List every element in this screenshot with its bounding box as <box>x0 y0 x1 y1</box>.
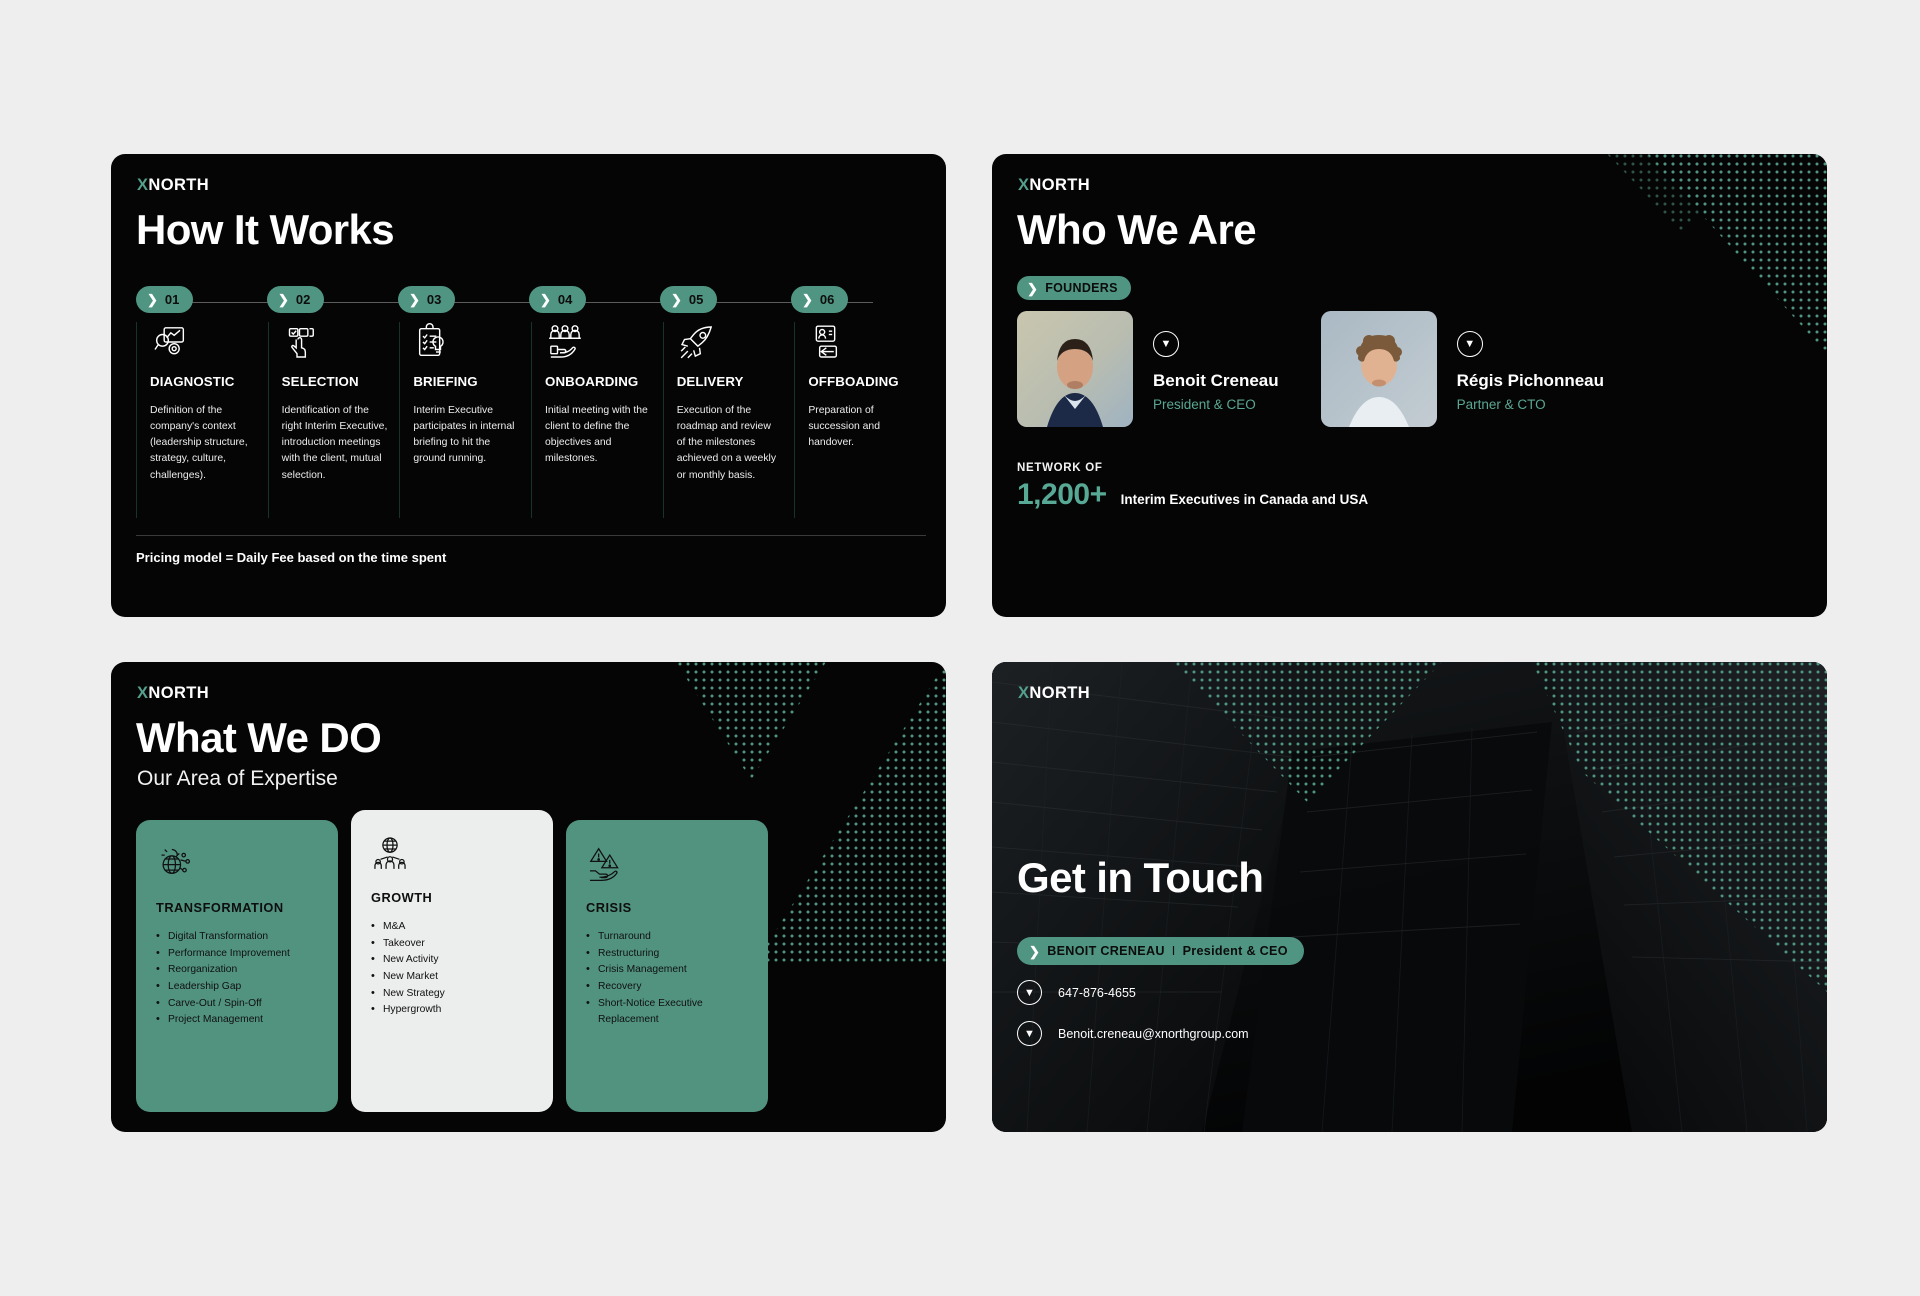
step-number: 03 <box>427 292 441 307</box>
founders-badge[interactable]: ❯FOUNDERS <box>1017 276 1131 300</box>
card-item-list: M&A Takeover New Activity New Market New… <box>371 919 533 1019</box>
xnorth-logo: XNORTH <box>1018 684 1090 703</box>
founder-role: President & CEO <box>1153 397 1279 412</box>
founder-meta: ▼ Régis Pichonneau Partner & CTO <box>1457 311 1604 412</box>
list-item: Reorganization <box>156 962 318 979</box>
founder-name: Régis Pichonneau <box>1457 371 1604 391</box>
slide-how-it-works: XNORTH How It Works ❯01 ❯02 ❯03 ❯04 ❯05 … <box>111 154 946 617</box>
contact-person-badge[interactable]: ❯ BENOIT CRENEAU I President & CEO <box>1017 937 1304 965</box>
contact-separator: I <box>1172 944 1176 958</box>
slide-get-in-touch: XNORTH Get in Touch ❯ BENOIT CRENEAU I P… <box>992 662 1827 1132</box>
logo-x-icon: X <box>137 684 148 703</box>
avatar <box>1321 311 1437 427</box>
page-title: Get in Touch <box>1017 854 1263 902</box>
step-desc: Initial meeting with the client to defin… <box>545 403 651 468</box>
contact-person-name: BENOIT CRENEAU <box>1047 944 1165 958</box>
founder-card: ▼ Benoit Creneau President & CEO <box>1017 311 1279 427</box>
contact-person-role: President & CEO <box>1183 944 1288 958</box>
list-item: Digital Transformation <box>156 929 318 946</box>
logo-x-icon: X <box>1018 176 1029 195</box>
step-title: SELECTION <box>282 374 388 389</box>
step-item: OFFBOADING Preparation of succession and… <box>794 322 926 518</box>
diagnostic-icon <box>150 322 256 364</box>
founder-list: ▼ Benoit Creneau President & CEO <box>1017 311 1604 427</box>
chevron-right-icon: ❯ <box>147 293 158 306</box>
list-item: Project Management <box>156 1012 318 1029</box>
step-title: OFFBOADING <box>808 374 914 389</box>
list-item: Turnaround <box>586 929 748 946</box>
chevron-down-icon[interactable]: ▼ <box>1017 1021 1042 1046</box>
step-desc: Preparation of succession and handover. <box>808 403 914 451</box>
logo-text: NORTH <box>148 176 209 194</box>
list-item: Short-Notice Executive Replacement <box>586 996 748 1029</box>
contact-phone-row[interactable]: ▼ 647-876-4655 <box>1017 980 1249 1005</box>
contact-phone: 647-876-4655 <box>1058 986 1136 1000</box>
chevron-right-icon: ❯ <box>540 293 551 306</box>
timeline-node-6[interactable]: ❯06 <box>791 286 848 313</box>
chevron-right-icon: ❯ <box>671 293 682 306</box>
founder-role: Partner & CTO <box>1457 397 1604 412</box>
list-item: Takeover <box>371 936 533 953</box>
chevron-down-icon[interactable]: ▼ <box>1457 331 1483 357</box>
xnorth-logo: XNORTH <box>137 684 209 703</box>
step-desc: Execution of the roadmap and review of t… <box>677 403 783 484</box>
chevron-right-icon: ❯ <box>409 293 420 306</box>
contact-list: ▼ 647-876-4655 ▼ Benoit.creneau@xnorthgr… <box>1017 980 1249 1062</box>
list-item: Restructuring <box>586 946 748 963</box>
crisis-icon <box>586 844 748 884</box>
chevron-right-icon: ❯ <box>278 293 289 306</box>
expertise-card-list: TRANSFORMATION Digital Transformation Pe… <box>136 820 768 1112</box>
network-stat: NETWORK OF 1,200+ Interim Executives in … <box>1017 462 1368 512</box>
timeline-node-2[interactable]: ❯02 <box>267 286 324 313</box>
avatar <box>1017 311 1133 427</box>
list-item: Recovery <box>586 979 748 996</box>
step-title: DIAGNOSTIC <box>150 374 256 389</box>
contact-email: Benoit.creneau@xnorthgroup.com <box>1058 1027 1249 1041</box>
logo-x-icon: X <box>137 176 148 195</box>
list-item: New Activity <box>371 952 533 969</box>
timeline-node-1[interactable]: ❯01 <box>136 286 193 313</box>
founder-name: Benoit Creneau <box>1153 371 1279 391</box>
step-item: SELECTION Identification of the right In… <box>268 322 400 518</box>
xnorth-logo: XNORTH <box>137 176 209 195</box>
step-desc: Interim Executive participates in intern… <box>413 403 519 468</box>
timeline-node-5[interactable]: ❯05 <box>660 286 717 313</box>
contact-email-row[interactable]: ▼ Benoit.creneau@xnorthgroup.com <box>1017 1021 1249 1046</box>
step-item: BRIEFING Interim Executive participates … <box>399 322 531 518</box>
network-description: Interim Executives in Canada and USA <box>1121 492 1369 507</box>
chevron-right-icon: ❯ <box>1029 945 1040 958</box>
expertise-card-crisis[interactable]: CRISIS Turnaround Restructuring Crisis M… <box>566 820 768 1112</box>
step-item: DELIVERY Execution of the roadmap and re… <box>663 322 795 518</box>
logo-text: NORTH <box>148 684 209 702</box>
logo-text: NORTH <box>1029 176 1090 194</box>
offboarding-icon <box>808 322 914 364</box>
founder-card: ▼ Régis Pichonneau Partner & CTO <box>1321 311 1604 427</box>
list-item: Crisis Management <box>586 962 748 979</box>
slide-who-we-are: XNORTH Who We Are ❯FOUNDERS <box>992 154 1827 617</box>
network-label: NETWORK OF <box>1017 462 1368 474</box>
briefing-icon <box>413 322 519 364</box>
expertise-card-transformation[interactable]: TRANSFORMATION Digital Transformation Pe… <box>136 820 338 1112</box>
step-number: 06 <box>820 292 834 307</box>
page-title: Who We Are <box>1017 206 1256 254</box>
card-title: GROWTH <box>371 890 533 905</box>
step-list: DIAGNOSTIC Definition of the company's c… <box>136 322 926 518</box>
page-subtitle: Our Area of Expertise <box>137 767 338 791</box>
step-item: ONBOARDING Initial meeting with the clie… <box>531 322 663 518</box>
chevron-right-icon: ❯ <box>802 293 813 306</box>
growth-icon <box>371 834 533 874</box>
step-item: DIAGNOSTIC Definition of the company's c… <box>136 322 268 518</box>
step-number: 01 <box>165 292 179 307</box>
badge-label: FOUNDERS <box>1045 281 1118 295</box>
step-desc: Definition of the company's context (lea… <box>150 403 256 484</box>
step-number: 04 <box>558 292 572 307</box>
onboarding-icon <box>545 322 651 364</box>
list-item: New Strategy <box>371 986 533 1003</box>
transformation-icon <box>156 844 318 884</box>
step-desc: Identification of the right Interim Exec… <box>282 403 388 484</box>
list-item: New Market <box>371 969 533 986</box>
step-title: ONBOARDING <box>545 374 651 389</box>
timeline-node-3[interactable]: ❯03 <box>398 286 455 313</box>
step-number: 05 <box>689 292 703 307</box>
list-item: Carve-Out / Spin-Off <box>156 996 318 1013</box>
slide-what-we-do: XNORTH What We DO Our Area of Expertise <box>111 662 946 1132</box>
list-item: Performance Improvement <box>156 946 318 963</box>
page-title: What We DO <box>136 714 381 762</box>
chevron-down-icon[interactable]: ▼ <box>1017 980 1042 1005</box>
card-title: TRANSFORMATION <box>156 900 318 915</box>
step-title: DELIVERY <box>677 374 783 389</box>
logo-text: NORTH <box>1029 684 1090 702</box>
chevron-right-icon: ❯ <box>1027 282 1038 295</box>
list-item: M&A <box>371 919 533 936</box>
timeline-node-4[interactable]: ❯04 <box>529 286 586 313</box>
network-number: 1,200+ <box>1017 478 1107 512</box>
timeline: ❯01 ❯02 ❯03 ❯04 ❯05 ❯06 <box>136 286 921 318</box>
chevron-down-icon[interactable]: ▼ <box>1153 331 1179 357</box>
expertise-card-growth[interactable]: GROWTH M&A Takeover New Activity New Mar… <box>351 810 553 1112</box>
selection-icon <box>282 322 388 364</box>
card-item-list: Digital Transformation Performance Impro… <box>156 929 318 1029</box>
step-number: 02 <box>296 292 310 307</box>
delivery-icon <box>677 322 783 364</box>
step-title: BRIEFING <box>413 374 519 389</box>
pricing-note: Pricing model = Daily Fee based on the t… <box>136 535 926 565</box>
xnorth-logo: XNORTH <box>1018 176 1090 195</box>
card-title: CRISIS <box>586 900 748 915</box>
founder-meta: ▼ Benoit Creneau President & CEO <box>1153 311 1279 412</box>
page-title: How It Works <box>136 206 394 254</box>
logo-x-icon: X <box>1018 684 1029 703</box>
list-item: Leadership Gap <box>156 979 318 996</box>
list-item: Hypergrowth <box>371 1002 533 1019</box>
card-item-list: Turnaround Restructuring Crisis Manageme… <box>586 929 748 1029</box>
presentation-board: XNORTH How It Works ❯01 ❯02 ❯03 ❯04 ❯05 … <box>0 0 1920 1296</box>
